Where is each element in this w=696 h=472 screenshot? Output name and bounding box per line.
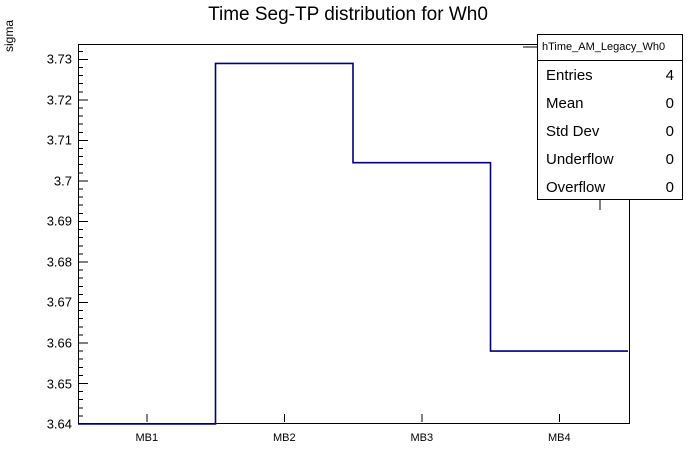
stats-key: Overflow [546, 179, 605, 196]
stats-box-title: hTime_AM_Legacy_Wh0 [538, 35, 682, 61]
stats-value: 0 [666, 179, 674, 196]
stats-row: Entries4 [538, 61, 682, 89]
stats-value: 0 [666, 151, 674, 168]
stats-value: 4 [666, 67, 674, 84]
stats-row: Std Dev0 [538, 117, 682, 145]
y-tick-label: 3.71 [26, 133, 72, 148]
stats-key: Std Dev [546, 123, 599, 140]
y-tick-label: 3.69 [26, 214, 72, 229]
root-canvas: Time Seg-TP distribution for Wh0 sigma 3… [0, 0, 696, 472]
page-title: Time Seg-TP distribution for Wh0 [0, 4, 696, 26]
y-tick-label: 3.64 [26, 417, 72, 432]
stats-row: Overflow0 [538, 173, 682, 201]
x-tick-label: MB3 [410, 432, 433, 444]
y-tick-label: 3.68 [26, 254, 72, 269]
y-tick-label: 3.65 [26, 376, 72, 391]
y-tick-label: 3.72 [26, 92, 72, 107]
y-tick-label: 3.73 [26, 52, 72, 67]
x-tick-label: MB2 [273, 432, 296, 444]
y-tick-label: 3.66 [26, 335, 72, 350]
stats-key: Mean [546, 95, 584, 112]
stats-row: Underflow0 [538, 145, 682, 173]
stats-row: Mean0 [538, 89, 682, 117]
y-axis-title: sigma [2, 20, 16, 52]
stats-key: Underflow [546, 151, 614, 168]
stats-value: 0 [666, 95, 674, 112]
x-tick-label: MB1 [135, 432, 158, 444]
y-tick-label: 3.7 [26, 173, 72, 188]
stats-key: Entries [546, 67, 593, 84]
stats-row-group: Entries4Mean0Std Dev0Underflow0Overflow0 [538, 61, 682, 201]
y-tick-label: 3.67 [26, 295, 72, 310]
stats-box[interactable]: hTime_AM_Legacy_Wh0 Entries4Mean0Std Dev… [537, 34, 683, 200]
x-tick-label: MB4 [548, 432, 571, 444]
stats-value: 0 [666, 123, 674, 140]
